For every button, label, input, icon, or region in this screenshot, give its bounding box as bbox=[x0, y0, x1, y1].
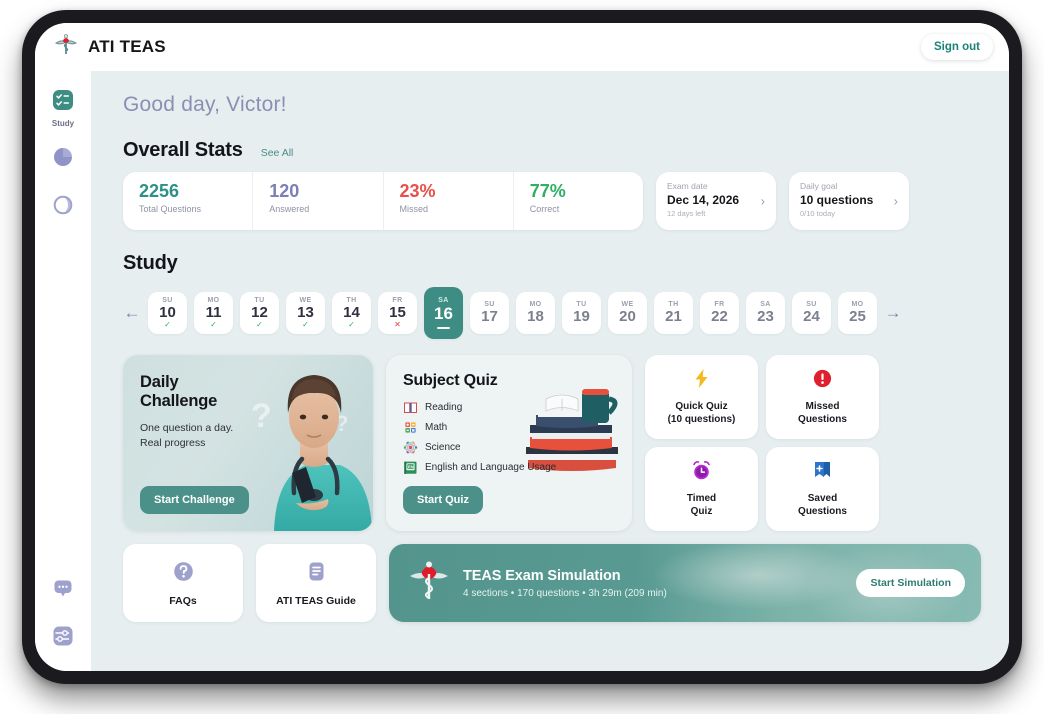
day-cell-22[interactable]: FR22 bbox=[700, 292, 739, 334]
tile-label: FAQs bbox=[169, 595, 196, 607]
arrow-right-icon[interactable]: → bbox=[884, 303, 902, 323]
day-number: 15 bbox=[389, 304, 406, 321]
day-of-week-label: FR bbox=[714, 301, 724, 308]
exam-date-countdown: 12 days left bbox=[667, 209, 765, 218]
day-cell-12[interactable]: TU12✓ bbox=[240, 292, 279, 334]
daily-challenge-subtitle: One question a day. Real progress bbox=[140, 421, 373, 451]
study-title: Study bbox=[123, 252, 178, 275]
sidebar-item-chat[interactable] bbox=[52, 577, 74, 607]
day-number: 21 bbox=[665, 308, 682, 325]
chat-bubble-icon bbox=[52, 577, 74, 604]
study-checklist-icon bbox=[52, 89, 74, 116]
subject-row[interactable]: Math bbox=[403, 420, 632, 435]
sidebar-item-label: Study bbox=[52, 119, 74, 128]
day-number: 12 bbox=[251, 304, 268, 321]
day-cell-16[interactable]: SA16 bbox=[424, 287, 463, 339]
subject-name: Math bbox=[425, 422, 447, 433]
day-cell-14[interactable]: TH14✓ bbox=[332, 292, 371, 334]
calculator-icon bbox=[403, 420, 418, 435]
cards-row: ? ? ? bbox=[123, 355, 981, 531]
caduceus-heart-icon bbox=[409, 559, 449, 608]
alarm-clock-icon bbox=[691, 460, 712, 486]
day-of-week-label: TU bbox=[576, 301, 586, 308]
app-screen: ATI TEAS Sign out Study bbox=[35, 23, 1009, 671]
stat-total-questions: 2256 Total Questions bbox=[123, 172, 253, 230]
daily-goal-card[interactable]: Daily goal 10 questions 0/10 today › bbox=[789, 172, 909, 230]
day-number: 13 bbox=[297, 304, 314, 321]
bookmark-plus-icon bbox=[812, 460, 833, 486]
tile-missed-questions[interactable]: Missed Questions bbox=[766, 355, 879, 439]
stat-missed: 23% Missed bbox=[384, 172, 514, 230]
day-number: 16 bbox=[434, 304, 453, 324]
subject-quiz-card: Subject Quiz ReadingMathScienceENEnglish… bbox=[386, 355, 632, 531]
day-number: 24 bbox=[803, 308, 820, 325]
tile-ati-teas-guide[interactable]: ATI TEAS Guide bbox=[256, 544, 376, 622]
day-number: 20 bbox=[619, 308, 636, 325]
brand-title: ATI TEAS bbox=[88, 37, 166, 57]
exam-date-value: Dec 14, 2026 bbox=[667, 193, 765, 207]
exam-date-card[interactable]: Exam date Dec 14, 2026 12 days left › bbox=[656, 172, 776, 230]
day-completed-check-icon: ✓ bbox=[164, 321, 171, 329]
brand-logo: ATI TEAS bbox=[53, 32, 166, 63]
day-cell-11[interactable]: MO11✓ bbox=[194, 292, 233, 334]
teas-exam-simulation-banner[interactable]: TEAS Exam Simulation 4 sections • 170 qu… bbox=[389, 544, 981, 622]
stat-label: Correct bbox=[530, 204, 643, 214]
stat-answered: 120 Answered bbox=[253, 172, 383, 230]
subject-name: Reading bbox=[425, 402, 462, 413]
day-number: 11 bbox=[206, 304, 222, 321]
sidebar-item-progress[interactable] bbox=[52, 194, 74, 224]
simulation-meta: 4 sections • 170 questions • 3h 29m (209… bbox=[463, 588, 667, 599]
question-circle-icon bbox=[172, 560, 195, 588]
tile-label: Timed Quiz bbox=[687, 492, 716, 519]
day-number: 18 bbox=[527, 308, 544, 325]
day-cell-17[interactable]: SU17 bbox=[470, 292, 509, 334]
day-of-week-label: SA bbox=[438, 297, 449, 304]
exam-date-label: Exam date bbox=[667, 181, 765, 191]
day-number: 19 bbox=[573, 308, 590, 325]
day-of-week-label: SU bbox=[162, 297, 173, 304]
chevron-right-icon: › bbox=[894, 194, 898, 209]
top-bar: ATI TEAS Sign out bbox=[35, 23, 1009, 71]
day-number: 10 bbox=[159, 304, 176, 321]
day-of-week-label: SU bbox=[806, 301, 817, 308]
stats-card: 2256 Total Questions 120 Answered 23% Mi… bbox=[123, 172, 643, 230]
study-header: Study bbox=[123, 252, 981, 275]
day-selected-indicator bbox=[437, 327, 450, 330]
day-number: 25 bbox=[849, 308, 866, 325]
stat-correct: 77% Correct bbox=[514, 172, 643, 230]
overall-stats-header: Overall Stats See All bbox=[123, 139, 981, 162]
subject-row[interactable]: Reading bbox=[403, 400, 632, 415]
tile-label: Saved Questions bbox=[798, 492, 847, 519]
start-challenge-button[interactable]: Start Challenge bbox=[140, 486, 249, 514]
day-number: 17 bbox=[481, 308, 498, 325]
day-cell-19[interactable]: TU19 bbox=[562, 292, 601, 334]
tile-label: Quick Quiz (10 questions) bbox=[668, 400, 736, 427]
day-of-week-label: WE bbox=[621, 301, 633, 308]
day-of-week-label: MO bbox=[207, 297, 219, 304]
day-completed-check-icon: ✓ bbox=[348, 321, 355, 329]
day-number: 14 bbox=[343, 304, 360, 321]
tile-saved-questions[interactable]: Saved Questions bbox=[766, 447, 879, 531]
day-completed-check-icon: ✓ bbox=[256, 321, 263, 329]
subject-name: Science bbox=[425, 442, 461, 453]
tile-quick-quiz[interactable]: Quick Quiz (10 questions) bbox=[645, 355, 758, 439]
start-simulation-button[interactable]: Start Simulation bbox=[856, 569, 965, 597]
day-of-week-label: SU bbox=[484, 301, 495, 308]
day-of-week-label: FR bbox=[392, 297, 402, 304]
date-strip: ← SU10✓MO11✓TU12✓WE13✓TH14✓FR15✕SA16SU17… bbox=[123, 287, 981, 339]
day-cell-24[interactable]: SU24 bbox=[792, 292, 831, 334]
day-cell-10[interactable]: SU10✓ bbox=[148, 292, 187, 334]
closed-book-en-icon: EN bbox=[403, 460, 418, 475]
day-of-week-label: TU bbox=[254, 297, 264, 304]
simulation-title: TEAS Exam Simulation bbox=[463, 568, 667, 584]
page-title: Overall Stats bbox=[123, 139, 243, 162]
document-lines-icon bbox=[305, 560, 328, 588]
day-completed-check-icon: ✓ bbox=[302, 321, 309, 329]
stat-value: 23% bbox=[400, 182, 513, 201]
subject-row[interactable]: ENEnglish and Language Usage bbox=[403, 460, 632, 475]
day-missed-cross-icon: ✕ bbox=[394, 321, 401, 329]
stat-value: 2256 bbox=[139, 182, 252, 201]
tile-label: ATI TEAS Guide bbox=[276, 595, 356, 607]
subject-row[interactable]: Science bbox=[403, 440, 632, 455]
pie-chart-icon bbox=[52, 146, 74, 173]
stat-label: Answered bbox=[269, 204, 382, 214]
settings-sliders-icon bbox=[52, 625, 74, 652]
day-cell-23[interactable]: SA23 bbox=[746, 292, 785, 334]
tile-timed-quiz[interactable]: Timed Quiz bbox=[645, 447, 758, 531]
tile-faqs[interactable]: FAQs bbox=[123, 544, 243, 622]
left-sidebar: Study bbox=[35, 71, 91, 671]
day-number: 23 bbox=[757, 308, 774, 325]
day-cell-21[interactable]: TH21 bbox=[654, 292, 693, 334]
stats-row: 2256 Total Questions 120 Answered 23% Mi… bbox=[123, 172, 981, 230]
sidebar-item-study[interactable]: Study bbox=[52, 89, 74, 128]
day-cell-18[interactable]: MO18 bbox=[516, 292, 555, 334]
sidebar-item-settings[interactable] bbox=[52, 625, 74, 655]
sign-out-button[interactable]: Sign out bbox=[921, 34, 993, 60]
arrow-left-icon[interactable]: ← bbox=[123, 303, 141, 323]
stat-value: 120 bbox=[269, 182, 382, 201]
stat-value: 77% bbox=[530, 182, 643, 201]
caduceus-heart-icon bbox=[53, 32, 79, 63]
tile-label: Missed Questions bbox=[798, 400, 847, 427]
stat-label: Total Questions bbox=[139, 204, 252, 214]
day-cell-13[interactable]: WE13✓ bbox=[286, 292, 325, 334]
lightning-bolt-icon bbox=[691, 368, 712, 394]
daily-challenge-title: DailyChallenge bbox=[140, 373, 373, 412]
subject-list: ReadingMathScienceENEnglish and Language… bbox=[403, 400, 632, 475]
daily-goal-progress: 0/10 today bbox=[800, 209, 898, 218]
daily-goal-value: 10 questions bbox=[800, 193, 898, 207]
open-book-icon bbox=[403, 400, 418, 415]
day-of-week-label: WE bbox=[299, 297, 311, 304]
see-all-link[interactable]: See All bbox=[261, 147, 294, 159]
subject-name: English and Language Usage bbox=[425, 462, 556, 473]
daily-challenge-card[interactable]: ? ? ? bbox=[123, 355, 373, 531]
greeting-text: Good day, Victor! bbox=[123, 93, 981, 117]
quick-action-tiles: Quick Quiz (10 questions) Missed Questio… bbox=[645, 355, 879, 531]
day-completed-check-icon: ✓ bbox=[210, 321, 217, 329]
stat-label: Missed bbox=[400, 204, 513, 214]
day-of-week-label: MO bbox=[851, 301, 863, 308]
svg-text:EN: EN bbox=[408, 464, 414, 469]
main-content: Good day, Victor! Overall Stats See All … bbox=[91, 71, 1009, 671]
day-cell-25[interactable]: MO25 bbox=[838, 292, 877, 334]
daily-goal-label: Daily goal bbox=[800, 181, 898, 191]
day-of-week-label: MO bbox=[529, 301, 541, 308]
atom-icon bbox=[403, 440, 418, 455]
progress-circle-icon bbox=[52, 194, 74, 221]
sidebar-item-stats[interactable] bbox=[52, 146, 74, 176]
chevron-right-icon: › bbox=[761, 194, 765, 209]
day-of-week-label: TH bbox=[346, 297, 356, 304]
day-cell-15[interactable]: FR15✕ bbox=[378, 292, 417, 334]
day-of-week-label: SA bbox=[760, 301, 771, 308]
day-of-week-label: TH bbox=[668, 301, 678, 308]
tablet-device-frame: ATI TEAS Sign out Study bbox=[22, 10, 1022, 684]
bottom-row: FAQs ATI TEAS Guide bbox=[123, 544, 981, 622]
red-alert-icon bbox=[812, 368, 833, 394]
day-number: 22 bbox=[711, 308, 728, 325]
day-cell-20[interactable]: WE20 bbox=[608, 292, 647, 334]
start-quiz-button[interactable]: Start Quiz bbox=[403, 486, 483, 514]
